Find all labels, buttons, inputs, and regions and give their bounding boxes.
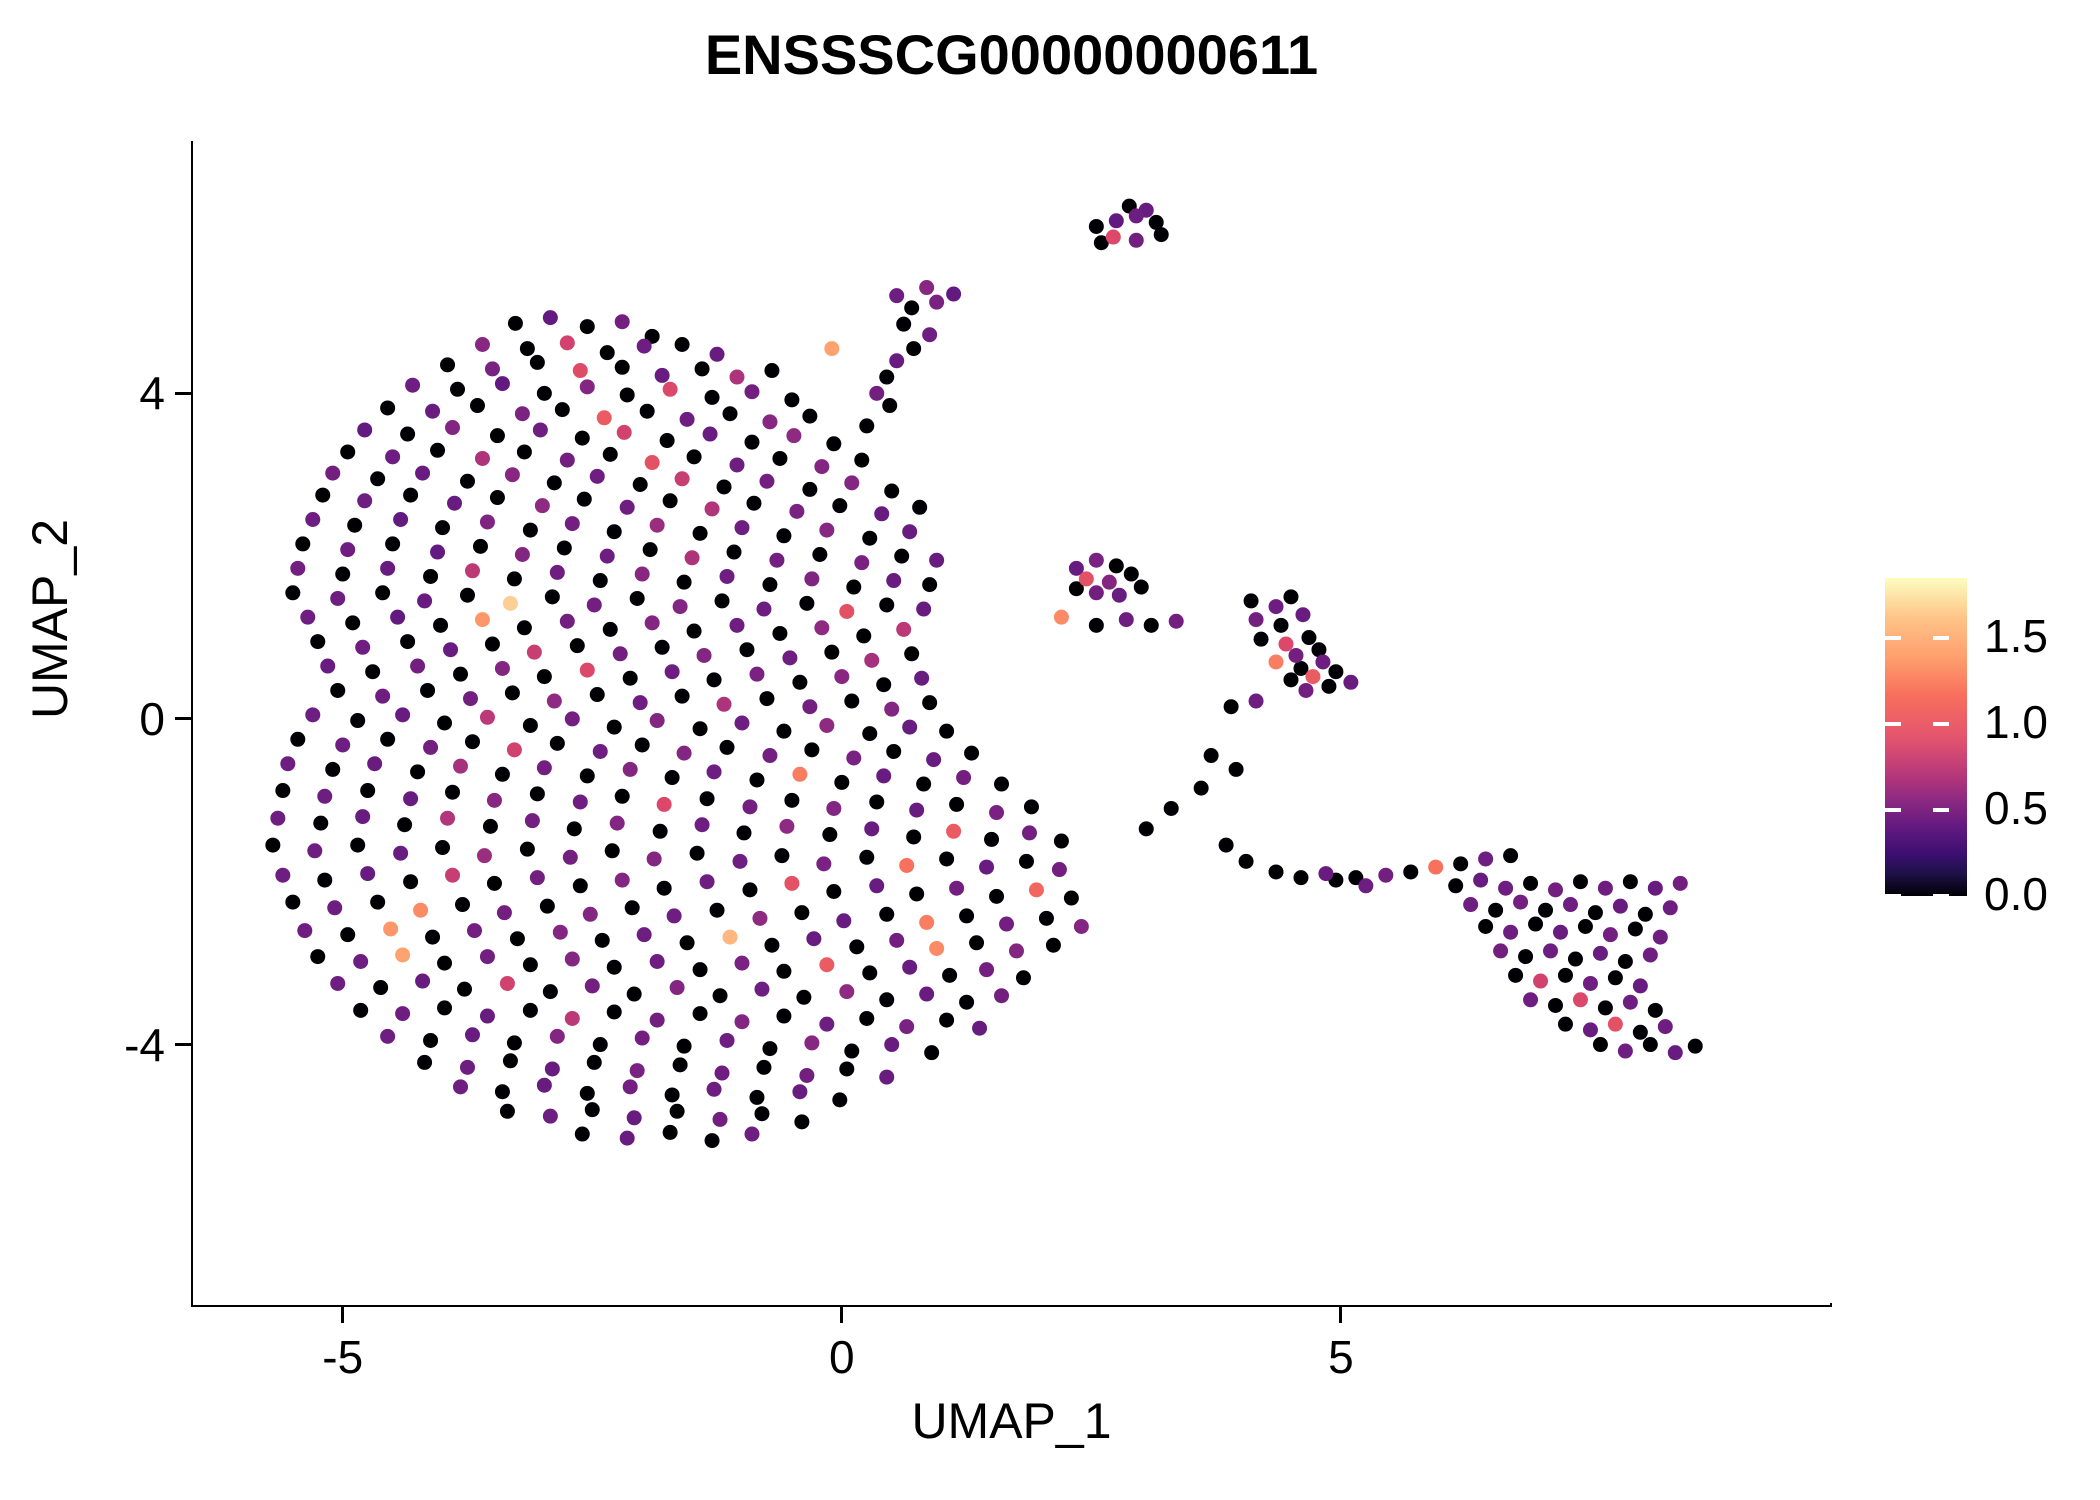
scatter-point	[889, 288, 904, 303]
scatter-point	[440, 811, 455, 826]
scatter-point	[380, 400, 395, 415]
scatter-point	[617, 425, 632, 440]
scatter-point	[475, 337, 490, 352]
scatter-point	[834, 669, 849, 684]
scatter-point	[742, 799, 757, 814]
scatter-point	[1498, 881, 1513, 896]
scatter-point	[1628, 921, 1643, 936]
scatter-point	[585, 1102, 600, 1117]
scatter-point	[605, 843, 620, 858]
scatter-point	[290, 561, 305, 576]
scatter-point	[1124, 567, 1139, 582]
scatter-point	[615, 314, 630, 329]
scatter-point	[373, 980, 388, 995]
scatter-point	[854, 555, 869, 570]
scatter-point	[590, 469, 605, 484]
scatter-point	[824, 645, 839, 660]
scatter-point	[902, 960, 917, 975]
scatter-point	[693, 1006, 708, 1021]
scatter-point	[597, 410, 612, 425]
scatter-point	[430, 545, 445, 560]
scatter-point	[1343, 675, 1358, 690]
scatter-point	[832, 498, 847, 513]
scatter-point	[465, 563, 480, 578]
scatter-point	[613, 646, 628, 661]
scatter-point	[435, 840, 450, 855]
scatter-point	[465, 734, 480, 749]
scatter-point	[792, 767, 807, 782]
scatter-point	[550, 565, 565, 580]
scatter-point	[874, 506, 889, 521]
scatter-point	[460, 1060, 475, 1075]
scatter-point	[395, 947, 410, 962]
scatter-point	[879, 907, 894, 922]
scatter-point	[1548, 882, 1563, 897]
scatter-point	[734, 520, 749, 535]
scatter-point	[812, 547, 827, 562]
scatter-point	[1588, 905, 1603, 920]
scatter-point	[1623, 874, 1638, 889]
scatter-point	[520, 341, 535, 356]
scatter-point	[802, 699, 817, 714]
scatter-point	[465, 1027, 480, 1042]
colorbar-tick-label: 0.0	[1984, 871, 2048, 917]
scatter-point	[869, 878, 884, 893]
scatter-point	[1513, 895, 1528, 910]
scatter-point	[839, 984, 854, 999]
scatter-point	[600, 549, 615, 564]
scatter-point	[485, 637, 500, 652]
scatter-point	[707, 1082, 722, 1097]
scatter-point	[822, 827, 837, 842]
scatter-point	[537, 386, 552, 401]
scatter-point	[517, 444, 532, 459]
scatter-point	[1523, 876, 1538, 891]
scatter-point	[1249, 694, 1264, 709]
scatter-point	[357, 493, 372, 508]
scatter-point	[275, 868, 290, 883]
scatter-point	[826, 801, 841, 816]
scatter-point	[989, 889, 1004, 904]
scatter-point	[799, 1068, 814, 1083]
scatter-point	[447, 496, 462, 511]
scatter-point	[633, 477, 648, 492]
scatter-point	[305, 512, 320, 527]
scatter-point	[715, 593, 730, 608]
scatter-point	[600, 345, 615, 360]
scatter-point	[1144, 618, 1159, 633]
scatter-point	[627, 987, 642, 1002]
scatter-point	[395, 707, 410, 722]
scatter-point	[924, 1045, 939, 1060]
scatter-point	[994, 988, 1009, 1003]
scatter-point	[819, 957, 834, 972]
scatter-point	[1239, 854, 1254, 869]
scatter-point	[680, 935, 695, 950]
scatter-point	[1553, 925, 1568, 940]
scatter-point	[693, 526, 708, 541]
scatter-point	[567, 821, 582, 836]
scatter-point	[285, 895, 300, 910]
scatter-point	[553, 925, 568, 940]
scatter-point	[1164, 801, 1179, 816]
scatter-point	[530, 355, 545, 370]
scatter-point	[380, 561, 395, 576]
scatter-point	[533, 422, 548, 437]
scatter-point	[1219, 838, 1234, 853]
scatter-point	[1129, 233, 1144, 248]
scatter-point	[330, 976, 345, 991]
scatter-point	[754, 982, 769, 997]
scatter-point	[884, 1037, 899, 1052]
scatter-point	[819, 523, 834, 538]
scatter-point	[417, 593, 432, 608]
scatter-point	[523, 1003, 538, 1018]
scatter-point	[922, 327, 937, 342]
scatter-point	[814, 620, 829, 635]
scatter-point	[972, 1021, 987, 1036]
scatter-point	[705, 501, 720, 516]
scatter-point	[347, 518, 362, 533]
scatter-point	[590, 687, 605, 702]
scatter-point	[505, 685, 520, 700]
scatter-point	[1538, 903, 1553, 918]
colorbar-tick-mark	[1885, 808, 1901, 812]
scatter-point	[335, 737, 350, 752]
scatter-point	[547, 694, 562, 709]
scatter-point	[703, 427, 718, 442]
scatter-point	[385, 536, 400, 551]
scatter-point	[713, 1112, 728, 1127]
scatter-point	[1293, 870, 1308, 885]
scatter-point	[615, 873, 630, 888]
scatter-point	[695, 361, 710, 376]
scatter-point	[560, 614, 575, 629]
scatter-point	[505, 467, 520, 482]
scatter-point	[580, 319, 595, 334]
scatter-point	[480, 1009, 495, 1024]
scatter-point	[707, 672, 722, 687]
scatter-point	[370, 895, 385, 910]
scatter-point	[375, 585, 390, 600]
scatter-point	[1074, 919, 1089, 934]
scatter-point	[375, 689, 390, 704]
scatter-point	[916, 777, 931, 792]
scatter-point	[779, 819, 794, 834]
scatter-point	[949, 797, 964, 812]
scatter-point	[1448, 878, 1463, 893]
scatter-point	[1154, 227, 1169, 242]
scatter-point	[1523, 992, 1538, 1007]
scatter-point	[655, 368, 670, 383]
scatter-point	[929, 295, 944, 310]
scatter-point	[919, 987, 934, 1002]
scatter-point	[776, 964, 791, 979]
scatter-point	[1024, 799, 1039, 814]
scatter-point	[445, 420, 460, 435]
scatter-point	[879, 1070, 894, 1085]
scatter-point	[723, 406, 738, 421]
scatter-point	[776, 528, 791, 543]
scatter-point	[673, 599, 688, 614]
scatter-point	[665, 1087, 680, 1102]
scatter-point	[1633, 978, 1648, 993]
scatter-point	[912, 500, 927, 515]
scatter-point	[365, 664, 380, 679]
scatter-point	[1583, 1022, 1598, 1037]
scatter-point	[643, 542, 658, 557]
scatter-point	[535, 498, 550, 513]
scatter-point	[1623, 995, 1638, 1010]
scatter-point	[1453, 856, 1468, 871]
scatter-point	[919, 280, 934, 295]
scatter-point	[435, 520, 450, 535]
scatter-point	[1249, 612, 1264, 627]
scatter-point	[475, 612, 490, 627]
scatter-point	[786, 428, 801, 443]
scatter-point	[517, 620, 532, 635]
scatter-point	[746, 496, 761, 511]
scatter-point	[782, 650, 797, 665]
scatter-point	[495, 1084, 510, 1099]
x-axis-tick-label: 5	[1261, 1330, 1421, 1384]
y-axis-tick-label: -4	[55, 1018, 165, 1072]
scatter-point	[824, 341, 839, 356]
scatter-point	[587, 1055, 602, 1070]
scatter-point	[433, 618, 448, 633]
scatter-point	[876, 677, 891, 692]
scatter-point	[814, 459, 829, 474]
scatter-point	[630, 1063, 645, 1078]
scatter-point	[360, 783, 375, 798]
scatter-point	[796, 990, 811, 1005]
scatter-points-layer	[193, 141, 1830, 1305]
scatter-point	[862, 965, 877, 980]
scatter-point	[360, 866, 375, 881]
scatter-point	[580, 1086, 595, 1101]
scatter-point	[450, 382, 465, 397]
scatter-point	[1608, 1017, 1623, 1032]
x-axis-label: UMAP_1	[193, 1392, 1830, 1450]
scatter-point	[939, 1013, 954, 1028]
scatter-point	[1463, 897, 1478, 912]
scatter-point	[523, 523, 538, 538]
scatter-point	[1428, 860, 1443, 875]
scatter-point	[879, 597, 894, 612]
scatter-point	[909, 886, 924, 901]
scatter-point	[265, 838, 280, 853]
scatter-point	[510, 931, 525, 946]
scatter-point	[862, 531, 877, 546]
scatter-point	[640, 404, 655, 419]
scatter-point	[667, 908, 682, 923]
scatter-point	[906, 829, 921, 844]
scatter-point	[580, 379, 595, 394]
scatter-point	[922, 577, 937, 592]
scatter-point	[503, 596, 518, 611]
scatter-point	[603, 447, 618, 462]
scatter-point	[635, 1031, 650, 1046]
scatter-point	[335, 567, 350, 582]
scatter-point	[410, 659, 425, 674]
scatter-point	[480, 710, 495, 725]
scatter-point	[889, 933, 904, 948]
scatter-point	[635, 567, 650, 582]
scatter-point	[899, 1019, 914, 1034]
scatter-point	[794, 1114, 809, 1129]
scatter-point	[792, 1084, 807, 1099]
scatter-point	[802, 482, 817, 497]
scatter-point	[500, 976, 515, 991]
scatter-point	[420, 683, 435, 698]
scatter-point	[1134, 580, 1149, 595]
scatter-point	[720, 740, 735, 755]
scatter-point	[580, 768, 595, 783]
scatter-point	[437, 956, 452, 971]
scatter-point	[355, 640, 370, 655]
scatter-point	[563, 850, 578, 865]
scatter-point	[655, 640, 670, 655]
scatter-point	[959, 995, 974, 1010]
scatter-point	[700, 874, 715, 889]
scatter-point	[1548, 998, 1563, 1013]
scatter-point	[705, 390, 720, 405]
scatter-point	[1543, 943, 1558, 958]
scatter-point	[1598, 1000, 1613, 1015]
scatter-point	[1102, 575, 1117, 590]
scatter-point	[730, 618, 745, 633]
scatter-point	[1608, 970, 1623, 985]
scatter-point	[415, 974, 430, 989]
scatter-point	[525, 813, 540, 828]
scatter-point	[620, 500, 635, 515]
scatter-point	[1054, 834, 1069, 849]
scatter-point	[876, 768, 891, 783]
scatter-point	[959, 908, 974, 923]
scatter-point	[816, 856, 831, 871]
scatter-point	[864, 821, 879, 836]
scatter-point	[1039, 911, 1054, 926]
scatter-point	[802, 409, 817, 424]
scatter-point	[405, 378, 420, 393]
scatter-point	[762, 577, 777, 592]
scatter-point	[417, 1055, 432, 1070]
scatter-point	[543, 984, 558, 999]
scatter-point	[846, 580, 861, 595]
scatter-point	[713, 988, 728, 1003]
scatter-point	[393, 846, 408, 861]
scatter-point	[693, 721, 708, 736]
scatter-point	[1503, 925, 1518, 940]
scatter-point	[453, 1079, 468, 1094]
scatter-point	[1229, 762, 1244, 777]
scatter-point	[1109, 558, 1124, 573]
scatter-point	[570, 638, 585, 653]
scatter-point	[710, 347, 725, 362]
scatter-point	[762, 1041, 777, 1056]
scatter-point	[749, 772, 764, 787]
scatter-point	[627, 1110, 642, 1125]
scatter-point	[607, 524, 622, 539]
scatter-point	[759, 474, 774, 489]
scatter-point	[315, 488, 330, 503]
scatter-point	[784, 876, 799, 891]
scatter-point	[882, 398, 897, 413]
scatter-point	[1109, 213, 1124, 228]
scatter-point	[545, 1061, 560, 1076]
scatter-point	[764, 363, 779, 378]
scatter-point	[846, 751, 861, 766]
scatter-point	[922, 695, 937, 710]
scatter-point	[819, 718, 834, 733]
scatter-point	[663, 382, 678, 397]
scatter-point	[565, 711, 580, 726]
scatter-point	[1029, 882, 1044, 897]
scatter-point	[507, 571, 522, 586]
scatter-point	[984, 832, 999, 847]
scatter-point	[1518, 949, 1533, 964]
scatter-point	[530, 786, 545, 801]
scatter-point	[675, 689, 690, 704]
scatter-point	[1254, 632, 1269, 647]
scatter-point	[1503, 848, 1518, 863]
scatter-point	[503, 1053, 518, 1068]
scatter-point	[353, 954, 368, 969]
scatter-point	[1663, 900, 1678, 915]
scatter-point	[573, 794, 588, 809]
colorbar-tick-label: 1.5	[1984, 613, 2048, 659]
scatter-point	[603, 622, 618, 637]
scatter-point	[819, 1017, 834, 1032]
scatter-point	[455, 897, 470, 912]
y-axis-tick-mark	[175, 392, 191, 395]
scatter-point	[500, 1104, 515, 1119]
scatter-point	[1054, 610, 1069, 625]
scatter-point	[573, 878, 588, 893]
scatter-point	[495, 376, 510, 391]
scatter-point	[657, 797, 672, 812]
scatter-point	[717, 479, 732, 494]
scatter-point	[487, 876, 502, 891]
scatter-point	[350, 713, 365, 728]
colorbar-tick-label: 0.5	[1984, 785, 2048, 831]
scatter-point	[423, 569, 438, 584]
scatter-point	[884, 484, 899, 499]
scatter-point	[463, 691, 478, 706]
scatter-point	[575, 1127, 590, 1142]
scatter-point	[792, 675, 807, 690]
scatter-point	[675, 337, 690, 352]
scatter-point	[290, 732, 305, 747]
scatter-point	[744, 384, 759, 399]
scatter-point	[736, 825, 751, 840]
scatter-point	[1119, 612, 1134, 627]
scatter-point	[620, 1131, 635, 1146]
scatter-point	[340, 542, 355, 557]
scatter-point	[380, 1029, 395, 1044]
scatter-point	[670, 980, 685, 995]
scatter-point	[645, 615, 660, 630]
scatter-point	[423, 1033, 438, 1048]
scatter-point	[307, 843, 322, 858]
scatter-point	[720, 1033, 735, 1048]
scatter-point	[297, 923, 312, 938]
scatter-point	[625, 900, 640, 915]
scatter-point	[1298, 683, 1313, 698]
scatter-point	[1658, 1019, 1673, 1034]
scatter-point	[896, 317, 911, 332]
scatter-point	[902, 524, 917, 539]
